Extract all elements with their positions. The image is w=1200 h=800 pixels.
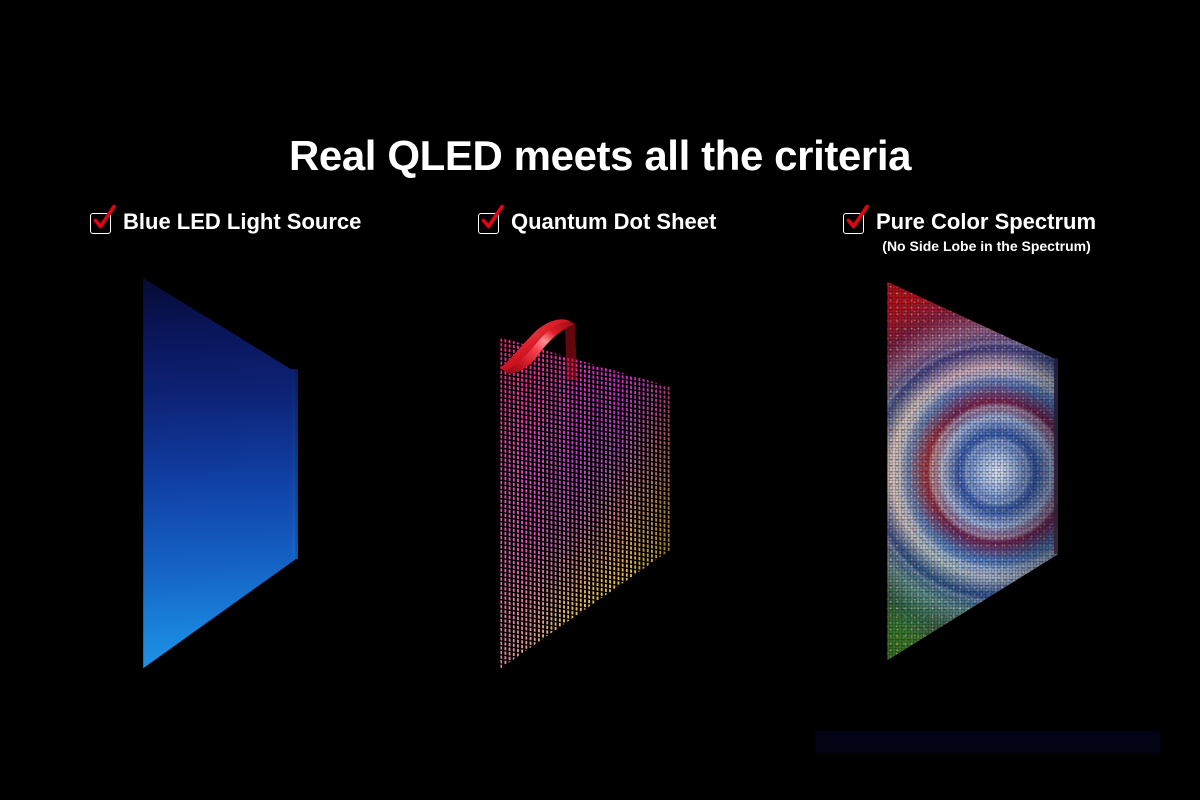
blue-led-panel	[140, 275, 300, 673]
carpet-panel-edge	[1054, 358, 1058, 554]
page-title: Real QLED meets all the criteria	[0, 131, 1200, 181]
blue-led-panel-face	[140, 275, 300, 673]
carpet-image	[880, 276, 1066, 668]
criterion-title: Quantum Dot Sheet	[511, 208, 716, 235]
criterion-blue-led-light-source: Blue LED Light Source	[88, 208, 361, 270]
criterion-pure-color-spectrum: Pure Color Spectrum (No Side Lobe in the…	[841, 208, 1096, 270]
checked-checkbox-icon[interactable]	[841, 209, 867, 235]
criterion-header-row: Pure Color Spectrum	[841, 208, 1096, 235]
criterion-title: Pure Color Spectrum	[876, 208, 1096, 235]
carpet-panel-shading	[880, 276, 1066, 668]
peeling-corner-icon	[497, 318, 583, 384]
pure-color-spectrum-panel	[880, 276, 1066, 668]
criterion-header-row: Blue LED Light Source	[88, 208, 361, 235]
criterion-header-row: Quantum Dot Sheet	[476, 208, 716, 235]
checked-checkbox-icon[interactable]	[476, 209, 502, 235]
red-check-mark-icon	[88, 204, 118, 234]
criterion-title: Blue LED Light Source	[123, 208, 361, 235]
criterion-subtitle: (No Side Lobe in the Spectrum)	[841, 237, 1096, 255]
red-check-mark-icon	[841, 204, 871, 234]
bottom-shadow-band	[815, 731, 1160, 753]
criterion-quantum-dot-sheet: Quantum Dot Sheet	[476, 208, 716, 270]
qled-criteria-slide: Real QLED meets all the criteria Blue LE…	[0, 0, 1200, 800]
checked-checkbox-icon[interactable]	[88, 209, 114, 235]
quantum-dot-sheet-panel	[495, 318, 677, 670]
red-check-mark-icon	[476, 204, 506, 234]
blue-led-panel-edge	[292, 369, 298, 559]
